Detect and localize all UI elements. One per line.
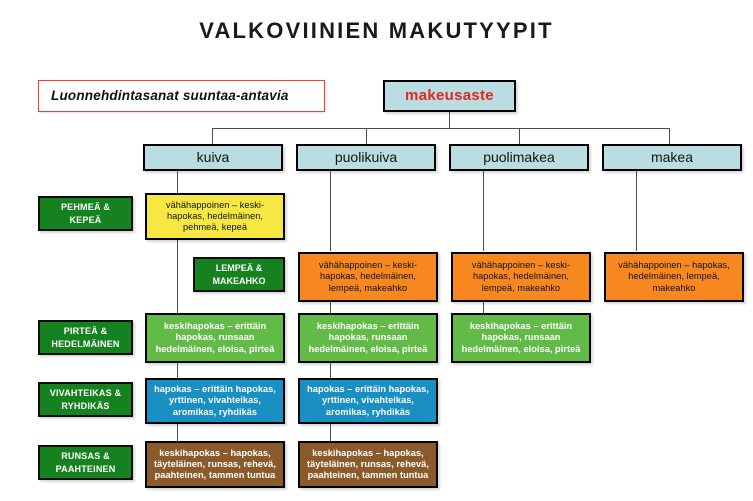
connector-puolikuiva-to-blue <box>330 363 331 378</box>
legend-note-text: Luonnehdintasanat suuntaa-antavia <box>39 88 293 104</box>
connector-kuiva-to-brown <box>177 424 178 441</box>
cell-kuiva-runsas[interactable]: keskihapokas – hapokas, täyteläinen, run… <box>145 441 285 488</box>
cell-puolimakea-pirtea[interactable]: keskihapokas – erittäin hapokas, runsaan… <box>451 313 591 363</box>
cell-puolikuiva-lempea-text: vähähappoinen – keski-hapokas, hedelmäin… <box>300 260 436 294</box>
column-header-puolikuiva[interactable]: puolikuiva <box>296 144 436 171</box>
column-header-puolimakea-label: puolimakea <box>479 149 559 166</box>
category-label-pehmea-kepea-text: PEHMEÄ & KEPEÄ <box>40 201 131 225</box>
category-label-pirtea-hedelmainen[interactable]: PIRTEÄ & HEDELMÄINEN <box>38 320 133 355</box>
cell-kuiva-pirtea[interactable]: keskihapokas – erittäin hapokas, runsaan… <box>145 313 285 363</box>
inline-tag-lempea-makeahko[interactable]: LEMPEÄ & MAKEAHKO <box>193 257 285 292</box>
cell-puolikuiva-vivahteikas[interactable]: hapokas – erittäin hapokas, yrttinen, vi… <box>298 378 438 424</box>
category-label-pehmea-kepea[interactable]: PEHMEÄ & KEPEÄ <box>38 196 133 231</box>
cell-puolikuiva-pirtea[interactable]: keskihapokas – erittäin hapokas, runsaan… <box>298 313 438 363</box>
cell-puolimakea-lempea[interactable]: vähähappoinen – keski-hapokas, hedelmäin… <box>451 252 591 302</box>
column-header-puolikuiva-label: puolikuiva <box>331 149 401 166</box>
connector-drop-kuiva <box>212 128 213 144</box>
root-node-label: makeusaste <box>401 87 498 105</box>
connector-puolikuiva-to-green <box>330 302 331 313</box>
connector-puolimakea-to-orange <box>483 171 484 251</box>
cell-kuiva-pirtea-text: keskihapokas – erittäin hapokas, runsaan… <box>147 321 283 355</box>
category-label-vivahteikas-ryhdikas-text: VIVAHTEIKAS & RYHDIKÄS <box>40 387 131 411</box>
connector-drop-makea <box>669 128 670 144</box>
connector-drop-puolimakea <box>519 128 520 144</box>
inline-tag-lempea-makeahko-text: LEMPEÄ & MAKEAHKO <box>195 262 283 286</box>
cell-puolimakea-lempea-text: vähähappoinen – keski-hapokas, hedelmäin… <box>453 260 589 294</box>
connector-bus-horizontal <box>212 128 670 129</box>
column-header-puolimakea[interactable]: puolimakea <box>449 144 589 171</box>
connector-puolikuiva-to-brown <box>330 424 331 441</box>
page-title: VALKOVIINIEN MAKUTYYPIT <box>0 18 753 44</box>
cell-puolikuiva-pirtea-text: keskihapokas – erittäin hapokas, runsaan… <box>300 321 436 355</box>
cell-puolikuiva-runsas[interactable]: keskihapokas – hapokas, täyteläinen, run… <box>298 441 438 488</box>
connector-makea-to-orange <box>636 171 637 251</box>
cell-puolikuiva-lempea[interactable]: vähähappoinen – keski-hapokas, hedelmäin… <box>298 252 438 302</box>
cell-puolikuiva-vivahteikas-text: hapokas – erittäin hapokas, yrttinen, vi… <box>300 384 436 418</box>
cell-puolimakea-pirtea-text: keskihapokas – erittäin hapokas, runsaan… <box>453 321 589 355</box>
connector-kuiva-to-green <box>177 240 178 313</box>
category-label-runsas-paahteinen[interactable]: RUNSAS & PAAHTEINEN <box>38 445 133 480</box>
category-label-vivahteikas-ryhdikas[interactable]: VIVAHTEIKAS & RYHDIKÄS <box>38 382 133 417</box>
cell-makea-lempea-text: vähähappoinen – hapokas, hedelmäinen, le… <box>606 260 742 294</box>
column-header-makea[interactable]: makea <box>602 144 742 171</box>
category-label-pirtea-hedelmainen-text: PIRTEÄ & HEDELMÄINEN <box>40 325 131 349</box>
connector-kuiva-to-yellow <box>177 171 178 193</box>
connector-puolimakea-to-green <box>483 302 484 313</box>
cell-kuiva-vivahteikas[interactable]: hapokas – erittäin hapokas, yrttinen, vi… <box>145 378 285 424</box>
cell-kuiva-runsas-text: keskihapokas – hapokas, täyteläinen, run… <box>147 448 283 482</box>
connector-drop-puolikuiva <box>366 128 367 144</box>
cell-kuiva-pehmea-text: vähähappoinen – keski-hapokas, hedelmäin… <box>147 200 283 234</box>
diagram-canvas: VALKOVIINIEN MAKUTYYPIT Luonnehdintasana… <box>0 0 753 501</box>
cell-kuiva-vivahteikas-text: hapokas – erittäin hapokas, yrttinen, vi… <box>147 384 283 418</box>
connector-root-down <box>449 112 450 129</box>
category-label-runsas-paahteinen-text: RUNSAS & PAAHTEINEN <box>40 450 131 474</box>
cell-makea-lempea[interactable]: vähähappoinen – hapokas, hedelmäinen, le… <box>604 252 744 302</box>
cell-kuiva-pehmea[interactable]: vähähappoinen – keski-hapokas, hedelmäin… <box>145 193 285 240</box>
column-header-makea-label: makea <box>647 149 697 166</box>
column-header-kuiva[interactable]: kuiva <box>143 144 283 171</box>
root-node-makeusaste[interactable]: makeusaste <box>383 80 516 112</box>
connector-kuiva-to-blue <box>177 363 178 378</box>
connector-puolikuiva-to-orange <box>330 171 331 251</box>
column-header-kuiva-label: kuiva <box>193 149 234 166</box>
legend-note-box: Luonnehdintasanat suuntaa-antavia <box>38 80 325 112</box>
cell-puolikuiva-runsas-text: keskihapokas – hapokas, täyteläinen, run… <box>300 448 436 482</box>
